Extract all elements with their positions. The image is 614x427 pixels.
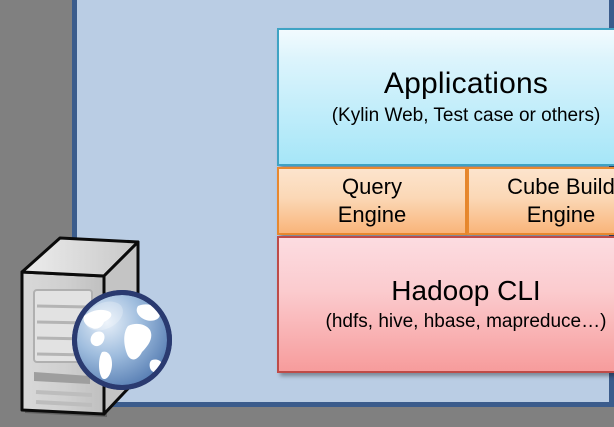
globe-shape xyxy=(72,290,172,390)
layer-query-engine[interactable]: Query Engine xyxy=(277,167,467,235)
layer-hadoop-cli-title: Hadoop CLI xyxy=(391,275,540,307)
layer-cube-build-engine[interactable]: Cube Build Engine xyxy=(467,167,614,235)
layer-cube-build-engine-title-line1: Cube Build xyxy=(507,173,614,201)
layer-applications[interactable]: Applications (Kylin Web, Test case or ot… xyxy=(277,28,614,166)
layer-cube-build-engine-title-line2: Engine xyxy=(527,201,596,229)
layer-applications-subtitle: (Kylin Web, Test case or others) xyxy=(332,104,601,128)
layer-applications-title: Applications xyxy=(384,67,548,101)
diagram-canvas: Applications (Kylin Web, Test case or ot… xyxy=(0,0,614,427)
layer-query-engine-title-line1: Query xyxy=(342,173,402,201)
layer-hadoop-cli[interactable]: Hadoop CLI (hdfs, hive, hbase, mapreduce… xyxy=(277,236,614,373)
layer-query-engine-title-line2: Engine xyxy=(338,201,407,229)
architecture-layer-stack: Applications (Kylin Web, Test case or ot… xyxy=(277,28,614,373)
server-globe-icon xyxy=(12,232,172,417)
layer-hadoop-cli-subtitle: (hdfs, hive, hbase, mapreduce…) xyxy=(326,310,607,334)
